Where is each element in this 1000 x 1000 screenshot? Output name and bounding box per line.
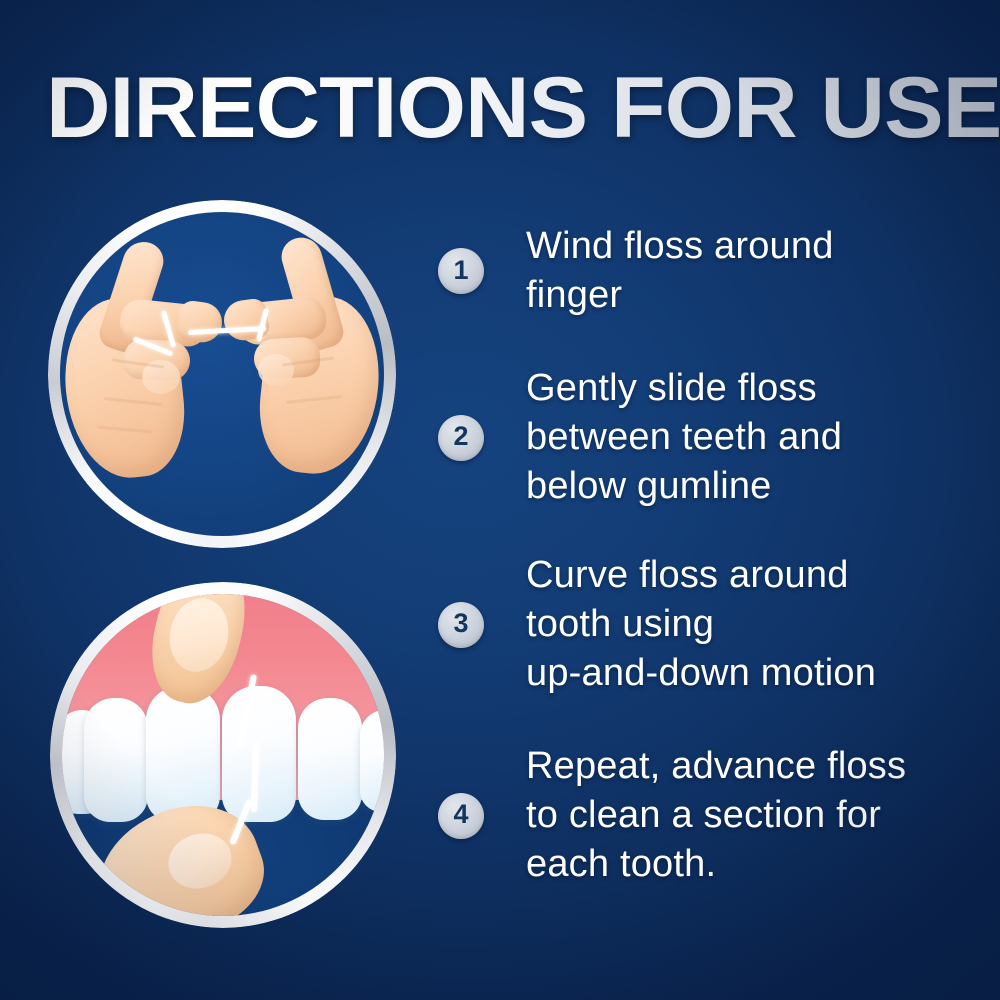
step-text-4: Repeat, advance floss to clean a section… bbox=[526, 742, 906, 889]
illustration-floss-between-teeth bbox=[50, 582, 396, 928]
tooth-right bbox=[298, 698, 362, 820]
step-badge-4: 4 bbox=[438, 793, 484, 839]
step-text-2: Gently slide floss between teeth and bel… bbox=[526, 364, 842, 511]
step-badge-2: 2 bbox=[438, 415, 484, 461]
tooth-center-right bbox=[222, 686, 296, 822]
step-item-4: 4 Repeat, advance floss to clean a secti… bbox=[438, 742, 968, 889]
page-title: DIRECTIONS FOR USE bbox=[46, 62, 1000, 154]
right-knuckle bbox=[258, 354, 294, 386]
step-text-1: Wind floss around finger bbox=[526, 222, 834, 320]
tooth-left bbox=[84, 698, 148, 822]
tooth-far-right bbox=[360, 710, 384, 812]
step-badge-3: 3 bbox=[438, 602, 484, 648]
left-index-fingertip bbox=[175, 299, 224, 345]
step-item-2: 2 Gently slide floss between teeth and b… bbox=[438, 364, 968, 511]
steps-list: 1 Wind floss around finger 2 Gently slid… bbox=[438, 222, 968, 915]
illustration-inner-teeth bbox=[62, 594, 384, 916]
step-item-3: 3 Curve floss around tooth using up-and-… bbox=[438, 551, 968, 698]
illustration-inner-hands bbox=[60, 212, 384, 536]
step-text-3: Curve floss around tooth using up-and-do… bbox=[526, 551, 876, 698]
illustration-wind-floss-around-fingers bbox=[48, 200, 396, 548]
tooth-center-left bbox=[146, 686, 220, 822]
step-badge-1: 1 bbox=[438, 248, 484, 294]
step-item-1: 1 Wind floss around finger bbox=[438, 222, 968, 320]
poster-canvas: DIRECTIONS FOR USE bbox=[0, 0, 1000, 1000]
